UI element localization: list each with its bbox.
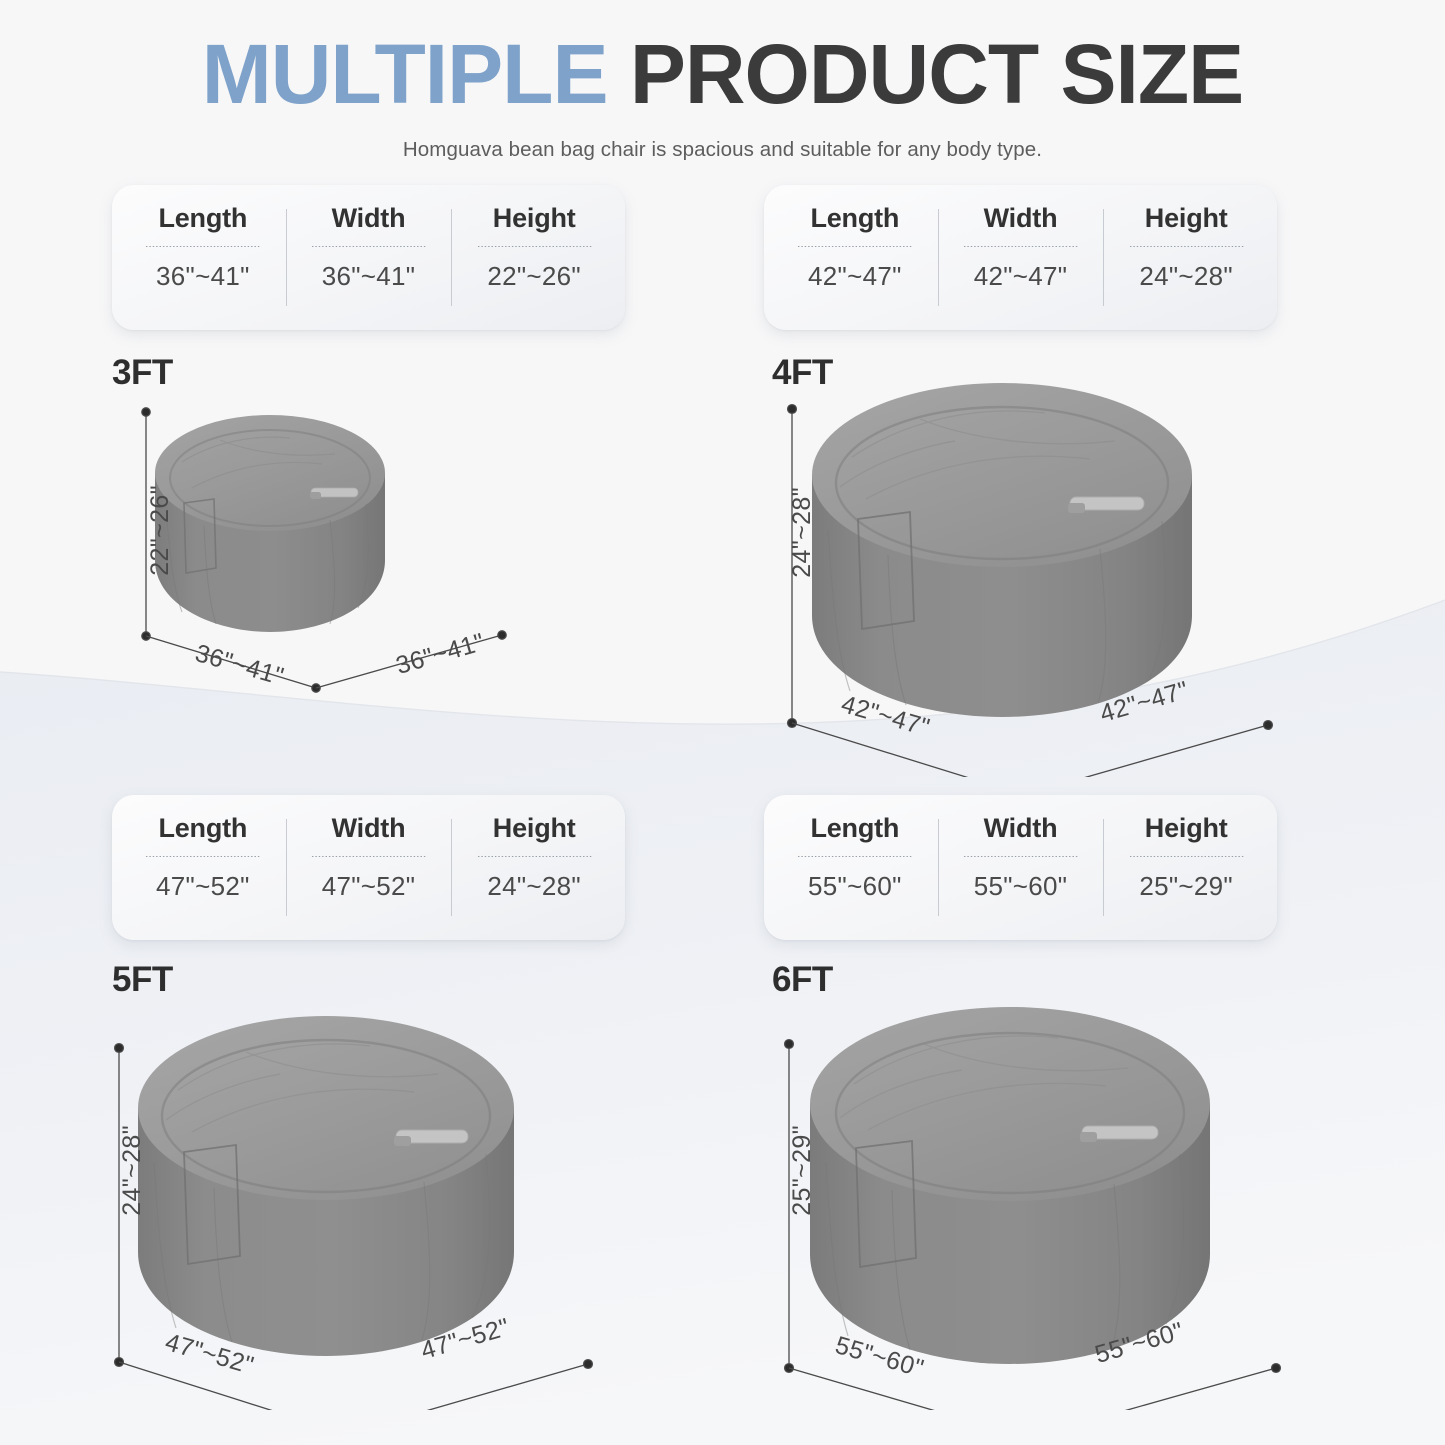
spec-value-width: 42"~47": [974, 261, 1068, 292]
size-section-3ft: Length 36"~41" Width 36"~41" Height 22"~…: [0, 185, 722, 795]
header: MULTIPLE PRODUCT SIZE Homguava bean bag …: [0, 32, 1445, 162]
spec-value-length: 42"~47": [808, 261, 902, 292]
spec-header-length: Length: [158, 813, 247, 844]
dotted-divider: [311, 856, 426, 857]
size-section-4ft: Length 42"~47" Width 42"~47" Height 24"~…: [722, 185, 1445, 795]
page-title: MULTIPLE PRODUCT SIZE: [0, 32, 1445, 116]
spec-header-width: Width: [984, 203, 1058, 234]
spec-value-length: 47"~52": [156, 871, 250, 902]
zipper-handle-icon: [310, 488, 358, 499]
spec-column-height: Height 25"~29": [1103, 809, 1269, 924]
size-label-3ft: 3FT: [112, 353, 173, 393]
beanbag-body-5ft: [138, 1016, 514, 1356]
infographic-canvas: MULTIPLE PRODUCT SIZE Homguava bean bag …: [0, 0, 1445, 1445]
size-section-6ft: Length 55"~60" Width 55"~60" Height 25"~…: [722, 795, 1445, 1445]
dotted-divider: [311, 246, 426, 247]
spec-header-length: Length: [158, 203, 247, 234]
dotted-divider: [1129, 856, 1244, 857]
size-section-5ft: Length 47"~52" Width 47"~52" Height 24"~…: [0, 795, 722, 1445]
page-subtitle: Homguava bean bag chair is spacious and …: [0, 138, 1445, 162]
spec-value-length: 55"~60": [808, 871, 902, 902]
beanbag-body-4ft: [812, 383, 1192, 717]
spec-value-width: 36"~41": [322, 261, 416, 292]
dimension-height-5ft: 24"~28": [118, 1125, 147, 1216]
spec-value-length: 36"~41": [156, 261, 250, 292]
spec-header-length: Length: [810, 203, 899, 234]
product-illustration-3ft: [130, 400, 600, 730]
spec-table-4ft: Length 42"~47" Width 42"~47" Height 24"~…: [764, 185, 1277, 330]
dimension-height-6ft: 25"~29": [788, 1125, 817, 1216]
spec-header-width: Width: [332, 203, 406, 234]
dotted-divider: [797, 856, 912, 857]
dotted-divider: [145, 856, 260, 857]
spec-column-length: Length 55"~60": [772, 809, 938, 924]
spec-column-width: Width 36"~41": [286, 199, 452, 314]
dotted-divider: [963, 856, 1078, 857]
spec-column-width: Width 42"~47": [938, 199, 1104, 314]
spec-header-height: Height: [1145, 203, 1228, 234]
spec-header-height: Height: [493, 203, 576, 234]
title-main-word: PRODUCT SIZE: [630, 27, 1243, 121]
spec-column-width: Width 47"~52": [286, 809, 452, 924]
spec-header-width: Width: [984, 813, 1058, 844]
spec-table-3ft: Length 36"~41" Width 36"~41" Height 22"~…: [112, 185, 625, 330]
spec-column-height: Height 22"~26": [451, 199, 617, 314]
dimension-height-4ft: 24"~28": [788, 487, 817, 578]
spec-table-6ft: Length 55"~60" Width 55"~60" Height 25"~…: [764, 795, 1277, 940]
title-accent-word: MULTIPLE: [202, 27, 608, 121]
spec-value-height: 24"~28": [1139, 261, 1233, 292]
spec-value-height: 24"~28": [487, 871, 581, 902]
spec-header-height: Height: [493, 813, 576, 844]
spec-value-width: 47"~52": [322, 871, 416, 902]
dotted-divider: [963, 246, 1078, 247]
spec-column-length: Length 42"~47": [772, 199, 938, 314]
dotted-divider: [145, 246, 260, 247]
dotted-divider: [477, 856, 592, 857]
spec-column-height: Height 24"~28": [451, 809, 617, 924]
spec-column-length: Length 36"~41": [120, 199, 286, 314]
spec-header-width: Width: [332, 813, 406, 844]
dotted-divider: [1129, 246, 1244, 247]
spec-header-height: Height: [1145, 813, 1228, 844]
spec-value-height: 25"~29": [1139, 871, 1233, 902]
beanbag-body-6ft: [810, 1007, 1210, 1364]
beanbag-body-3ft: [155, 415, 385, 632]
spec-value-height: 22"~26": [487, 261, 581, 292]
spec-header-length: Length: [810, 813, 899, 844]
spec-column-length: Length 47"~52": [120, 809, 286, 924]
spec-column-height: Height 24"~28": [1103, 199, 1269, 314]
spec-column-width: Width 55"~60": [938, 809, 1104, 924]
dotted-divider: [477, 246, 592, 247]
dotted-divider: [797, 246, 912, 247]
spec-table-5ft: Length 47"~52" Width 47"~52" Height 24"~…: [112, 795, 625, 940]
spec-value-width: 55"~60": [974, 871, 1068, 902]
dimension-height-3ft: 22"~26": [146, 485, 175, 576]
